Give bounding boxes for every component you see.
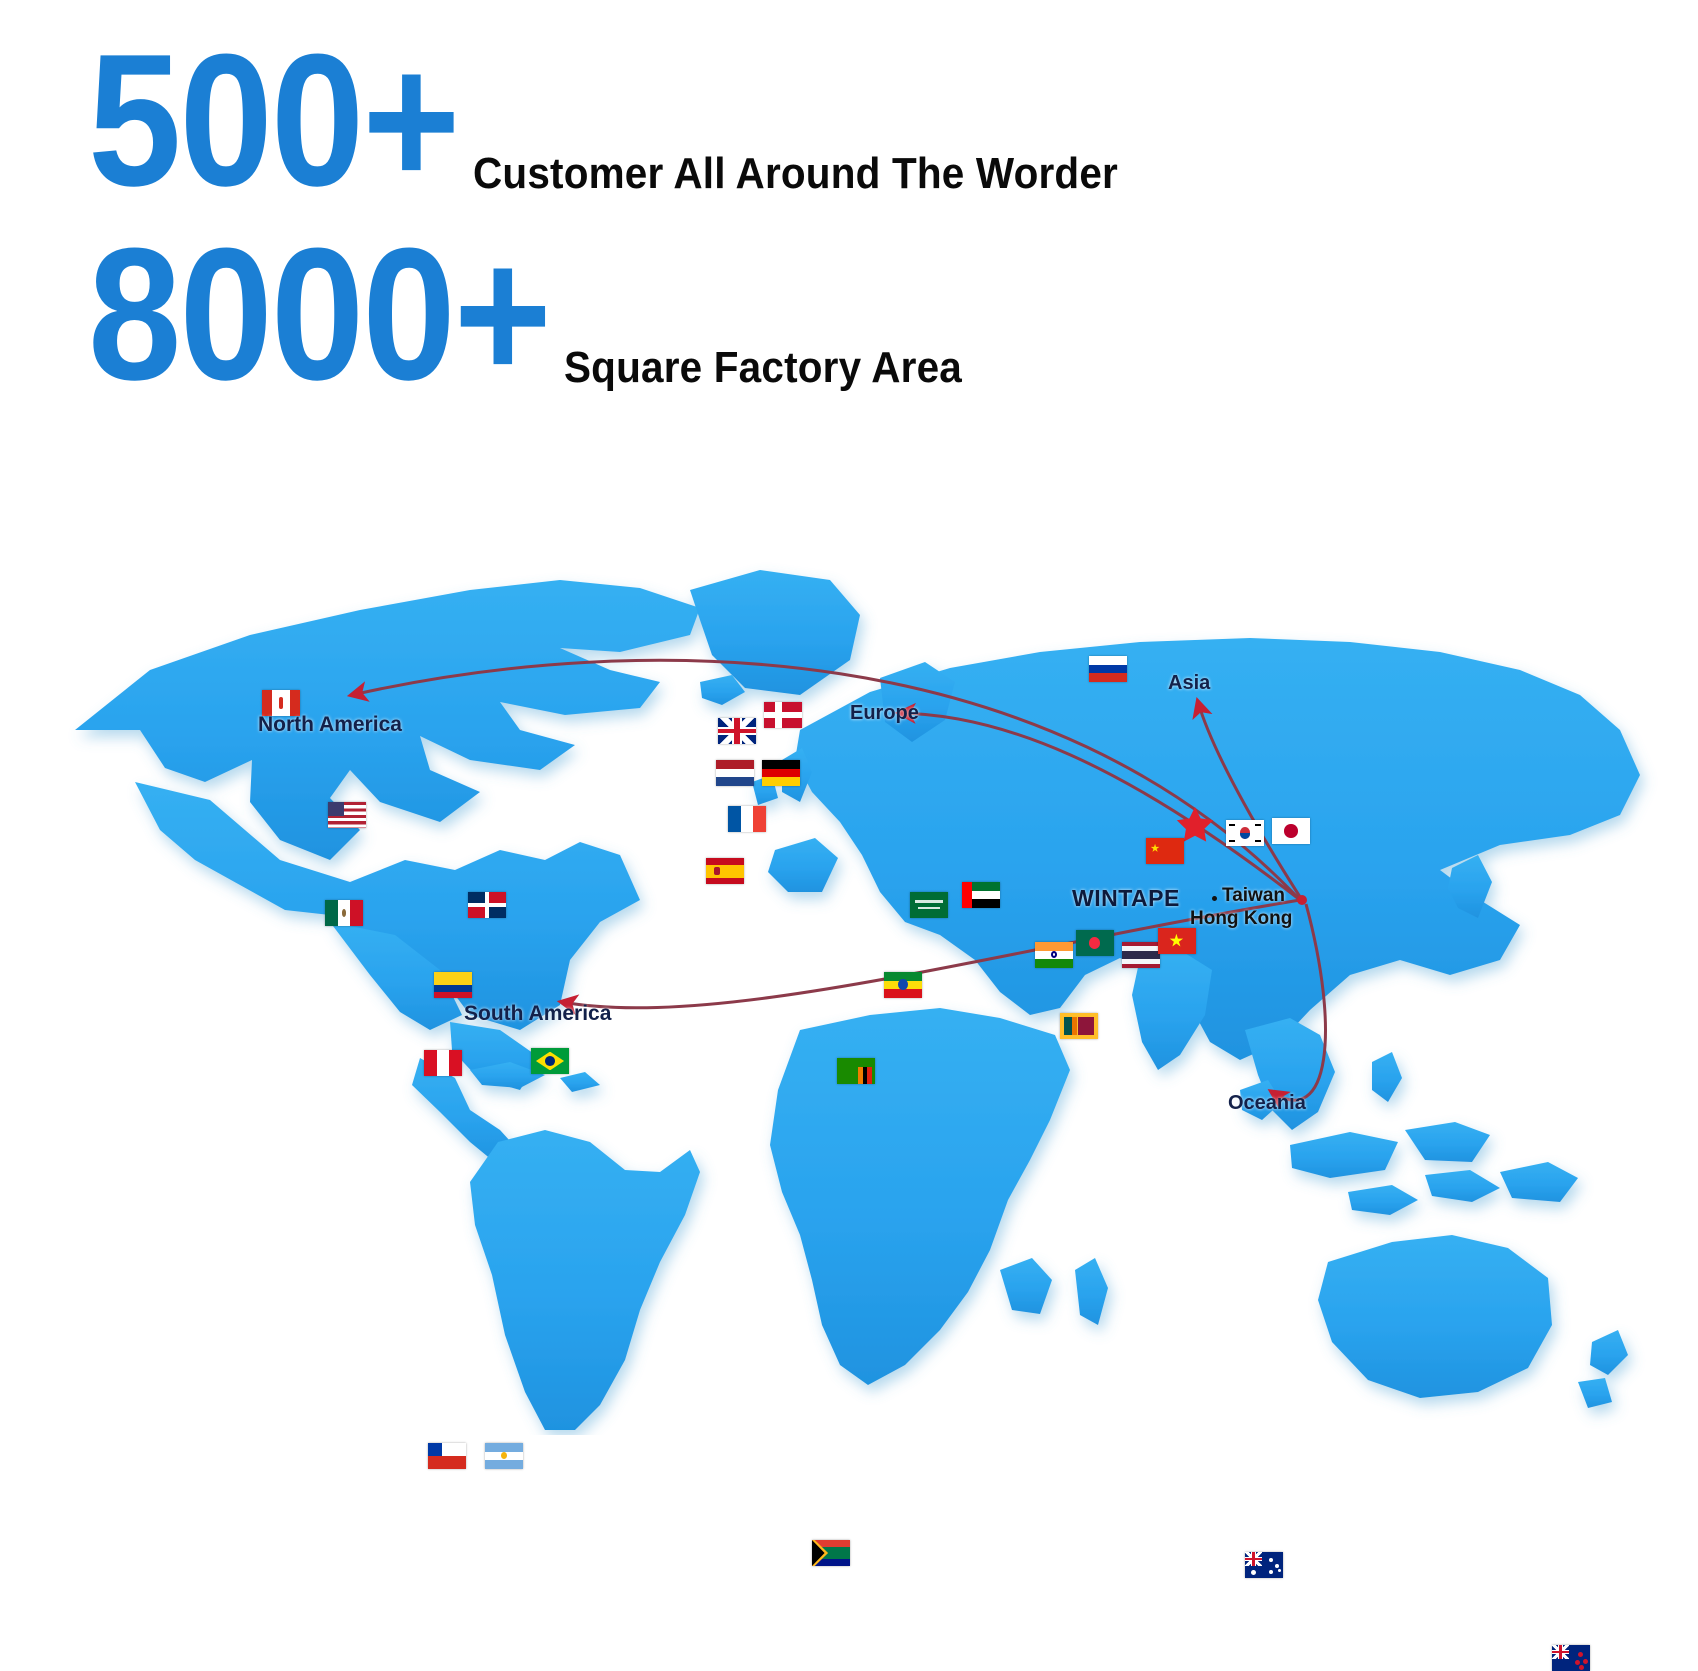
flag-dominican-republic (468, 892, 506, 918)
flag-zambia (837, 1058, 875, 1084)
flag-united-states (328, 802, 366, 828)
flag-new-zealand (1552, 1645, 1590, 1671)
label-north-america: North America (258, 713, 402, 737)
label-taiwan: Taiwan (1222, 885, 1285, 907)
stat-row-factory-area: 8000+ Square Factory Area (88, 240, 997, 408)
world-map-svg (0, 430, 1698, 1435)
flag-brazil (531, 1048, 569, 1074)
flag-australia (1245, 1552, 1283, 1578)
flag-china (1146, 838, 1184, 864)
label-wintape-hub: WINTAPE (1072, 885, 1180, 912)
flag-south-africa (812, 1540, 850, 1566)
headline-stats-block: 500+ Customer All Around The Worder 8000… (0, 0, 1698, 430)
flag-argentina (485, 1443, 523, 1469)
taiwan-marker-dot (1212, 896, 1217, 901)
label-asia: Asia (1168, 672, 1210, 695)
flag-russia (1089, 656, 1127, 682)
world-map: North America South America Europe Asia … (0, 430, 1698, 1435)
flag-colombia (434, 972, 472, 998)
label-oceania: Oceania (1228, 1092, 1306, 1115)
stat-number-8000: 8000+ (88, 220, 550, 408)
flag-germany (762, 760, 800, 786)
label-europe: Europe (850, 702, 919, 725)
flag-united-kingdom (718, 718, 756, 744)
label-hong-kong: Hong Kong (1190, 908, 1292, 930)
flag-japan (1272, 818, 1310, 844)
stat-row-customers: 500+ Customer All Around The Worder (88, 46, 1174, 214)
flag-ethiopia (884, 972, 922, 998)
flag-vietnam (1158, 928, 1196, 954)
flag-mexico (325, 900, 363, 926)
flag-spain (706, 858, 744, 884)
flag-thailand (1122, 942, 1160, 968)
label-south-america: South America (464, 1002, 611, 1026)
flag-france (728, 806, 766, 832)
stat-label-customers: Customer All Around The Worder (473, 149, 1118, 199)
landmasses (75, 570, 1640, 1430)
flag-peru (424, 1050, 462, 1076)
flag-south-korea (1226, 820, 1264, 846)
flag-sri-lanka (1060, 1013, 1098, 1039)
stat-label-factory-area: Square Factory Area (564, 343, 962, 393)
stat-number-500: 500+ (88, 26, 458, 214)
flag-united-arab-emirates (962, 882, 1000, 908)
flag-chile (428, 1443, 466, 1469)
flag-saudi-arabia (910, 892, 948, 918)
flag-netherlands (716, 760, 754, 786)
flag-denmark (764, 702, 802, 728)
hub-origin-dot (1297, 895, 1307, 905)
flag-bangladesh (1076, 930, 1114, 956)
flag-india (1035, 942, 1073, 968)
